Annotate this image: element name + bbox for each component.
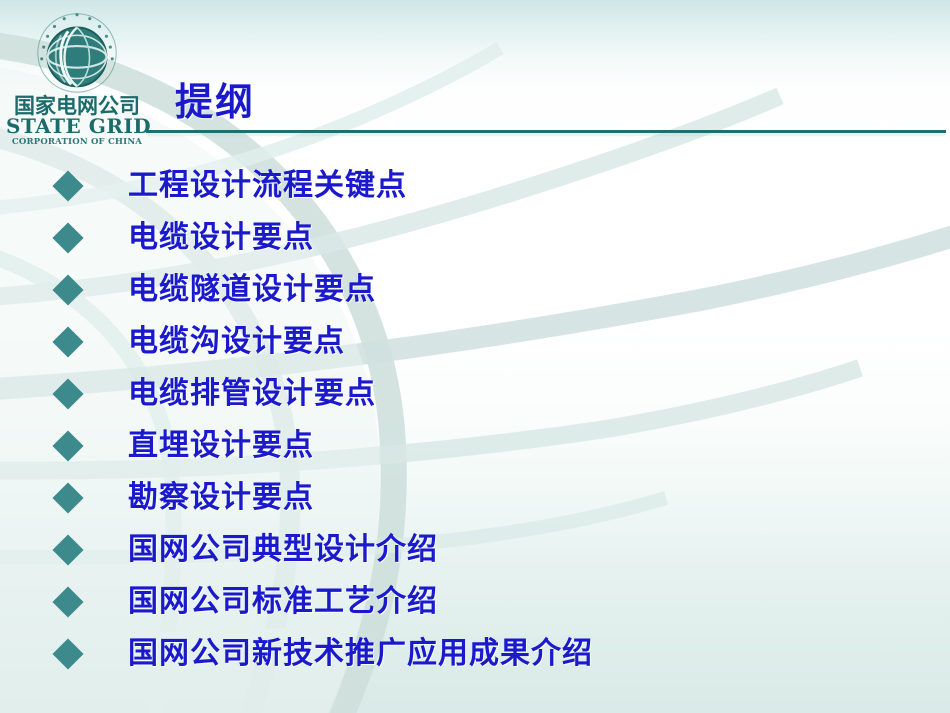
list-item[interactable]: 电缆沟设计要点 — [0, 316, 950, 368]
list-item[interactable]: 电缆设计要点 — [0, 212, 950, 264]
list-item-label: 电缆排管设计要点 — [128, 376, 376, 412]
presentation-slide: 国家电网公司 STATE GRID CORPORATION OF CHINA 提… — [0, 0, 950, 713]
list-item-label: 勘察设计要点 — [128, 480, 314, 516]
outline-list: 工程设计流程关键点 电缆设计要点 电缆隧道设计要点 电缆沟设计要点 电缆排管设计… — [0, 160, 950, 680]
list-item-label: 直埋设计要点 — [128, 428, 314, 464]
diamond-bullet-icon — [52, 274, 83, 305]
diamond-bullet-icon — [52, 326, 83, 357]
list-item-label: 工程设计流程关键点 — [128, 168, 407, 204]
list-item[interactable]: 电缆排管设计要点 — [0, 368, 950, 420]
list-item-label: 国网公司标准工艺介绍 — [128, 584, 438, 620]
list-item[interactable]: 电缆隧道设计要点 — [0, 264, 950, 316]
list-item[interactable]: 工程设计流程关键点 — [0, 160, 950, 212]
list-item-label: 国网公司新技术推广应用成果介绍 — [128, 636, 593, 672]
list-item-label: 电缆隧道设计要点 — [128, 272, 376, 308]
state-grid-logo: 国家电网公司 STATE GRID CORPORATION OF CHINA — [6, 2, 148, 154]
logo-company-name-en: STATE GRID — [6, 116, 148, 137]
list-item[interactable]: 国网公司标准工艺介绍 — [0, 576, 950, 628]
list-item-label: 国网公司典型设计介绍 — [128, 532, 438, 568]
diamond-bullet-icon — [52, 378, 83, 409]
diamond-bullet-icon — [52, 482, 83, 513]
list-item-label: 电缆设计要点 — [128, 220, 314, 256]
list-item-label: 电缆沟设计要点 — [128, 324, 345, 360]
diamond-bullet-icon — [52, 430, 83, 461]
diamond-bullet-icon — [52, 170, 83, 201]
diamond-bullet-icon — [52, 638, 83, 669]
diamond-bullet-icon — [52, 222, 83, 253]
list-item[interactable]: 直埋设计要点 — [0, 420, 950, 472]
diamond-bullet-icon — [52, 586, 83, 617]
list-item[interactable]: 国网公司新技术推广应用成果介绍 — [0, 628, 950, 680]
diamond-bullet-icon — [52, 534, 83, 565]
list-item[interactable]: 勘察设计要点 — [0, 472, 950, 524]
state-grid-globe-icon — [28, 2, 126, 100]
list-item[interactable]: 国网公司典型设计介绍 — [0, 524, 950, 576]
title-underline-rule — [146, 130, 946, 133]
slide-title: 提纲 — [175, 79, 255, 125]
logo-company-subtitle: CORPORATION OF CHINA — [6, 137, 148, 147]
